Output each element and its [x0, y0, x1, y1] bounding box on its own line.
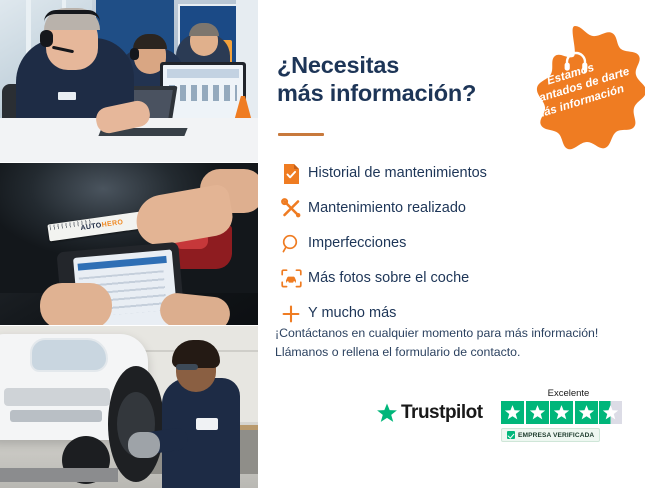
page-title-line2: más información? — [277, 80, 517, 108]
trustpilot-rating-label: Excelente — [501, 388, 636, 399]
feature-item-mantenimiento: Mantenimiento realizado — [274, 192, 614, 225]
verified-company-label: EMPRESA VERIFICADA — [518, 432, 594, 439]
car-lift-ramp — [0, 468, 118, 482]
wrench-screwdriver-cross-icon — [274, 198, 308, 219]
feature-item-label: Historial de mantenimientos — [308, 166, 487, 181]
star-half — [599, 401, 622, 424]
feature-item-label: Mantenimiento realizado — [308, 201, 466, 216]
feature-item-historial: Historial de mantenimientos — [274, 157, 614, 190]
photo-column: AUTOHERO — [0, 0, 258, 488]
safety-glasses-icon — [176, 364, 198, 370]
car-wheel-front — [108, 366, 164, 482]
uniform-badge — [196, 418, 218, 430]
promo-card: AUTOHERO — [0, 0, 650, 488]
photo-mechanic-inspecting-white-car-on-lift — [0, 325, 258, 488]
headset-band — [44, 10, 100, 22]
star-filled — [526, 401, 549, 424]
inspector-hand-lower — [40, 283, 112, 325]
inspector-hand-side — [158, 291, 231, 325]
magnifier-icon — [274, 234, 308, 254]
contact-paragraph-line2: Llámanos o rellena el formulario de cont… — [275, 343, 631, 362]
trustpilot-stars — [501, 401, 636, 424]
feature-item-label: Imperfecciones — [308, 236, 406, 251]
promo-badge: Estamos encantados de darte más informac… — [505, 23, 645, 163]
car-headlight — [30, 338, 108, 372]
contact-paragraph-line1: ¡Contáctanos en cualquier momento para m… — [275, 324, 631, 343]
feature-item-imperfecciones: Imperfecciones — [274, 227, 614, 260]
star-filled — [575, 401, 598, 424]
trustpilot-brand-label: Trustpilot — [401, 402, 483, 424]
page-title: ¿Necesitas más información? — [277, 52, 517, 107]
car-grille — [4, 388, 110, 406]
trustpilot-rating[interactable]: Excelente EMPRESA VERIFICADA — [501, 388, 636, 444]
feature-item-label: Y mucho más — [308, 306, 396, 321]
headset-earcup — [130, 48, 139, 60]
title-divider — [278, 133, 324, 136]
document-check-icon — [274, 163, 308, 185]
star-filled — [501, 401, 524, 424]
contact-paragraph: ¡Contáctanos en cualquier momento para m… — [275, 324, 631, 362]
autohero-ruler-label: AUTOHERO — [80, 219, 124, 232]
name-badge — [58, 92, 76, 100]
trustpilot-logo[interactable]: Trustpilot — [376, 402, 483, 424]
verified-company-badge: EMPRESA VERIFICADA — [501, 428, 600, 442]
feature-item-fotos: Más fotos sobre el coche — [274, 262, 614, 295]
headset-earcup — [40, 30, 53, 47]
trustpilot-star-icon — [376, 402, 398, 424]
feature-list: Historial de mantenimientos Mantenimient… — [274, 157, 614, 332]
photo-call-center-agents-with-headsets — [0, 0, 258, 162]
car-scan-icon — [274, 269, 308, 288]
photo-ruler-measuring-car-with-tablet: AUTOHERO — [0, 162, 258, 325]
work-glove — [128, 432, 160, 458]
page-title-line1: ¿Necesitas — [277, 52, 399, 78]
feature-item-label: Más fotos sobre el coche — [308, 271, 469, 286]
star-filled — [550, 401, 573, 424]
trustpilot-widget[interactable]: Trustpilot Excelente EMPRESA VERIFICADA — [376, 388, 636, 450]
car-lower-grille — [10, 410, 102, 422]
content-panel: ¿Necesitas más información? Estamos enca… — [258, 0, 650, 488]
check-box-icon — [507, 431, 515, 439]
plus-icon — [274, 304, 308, 324]
